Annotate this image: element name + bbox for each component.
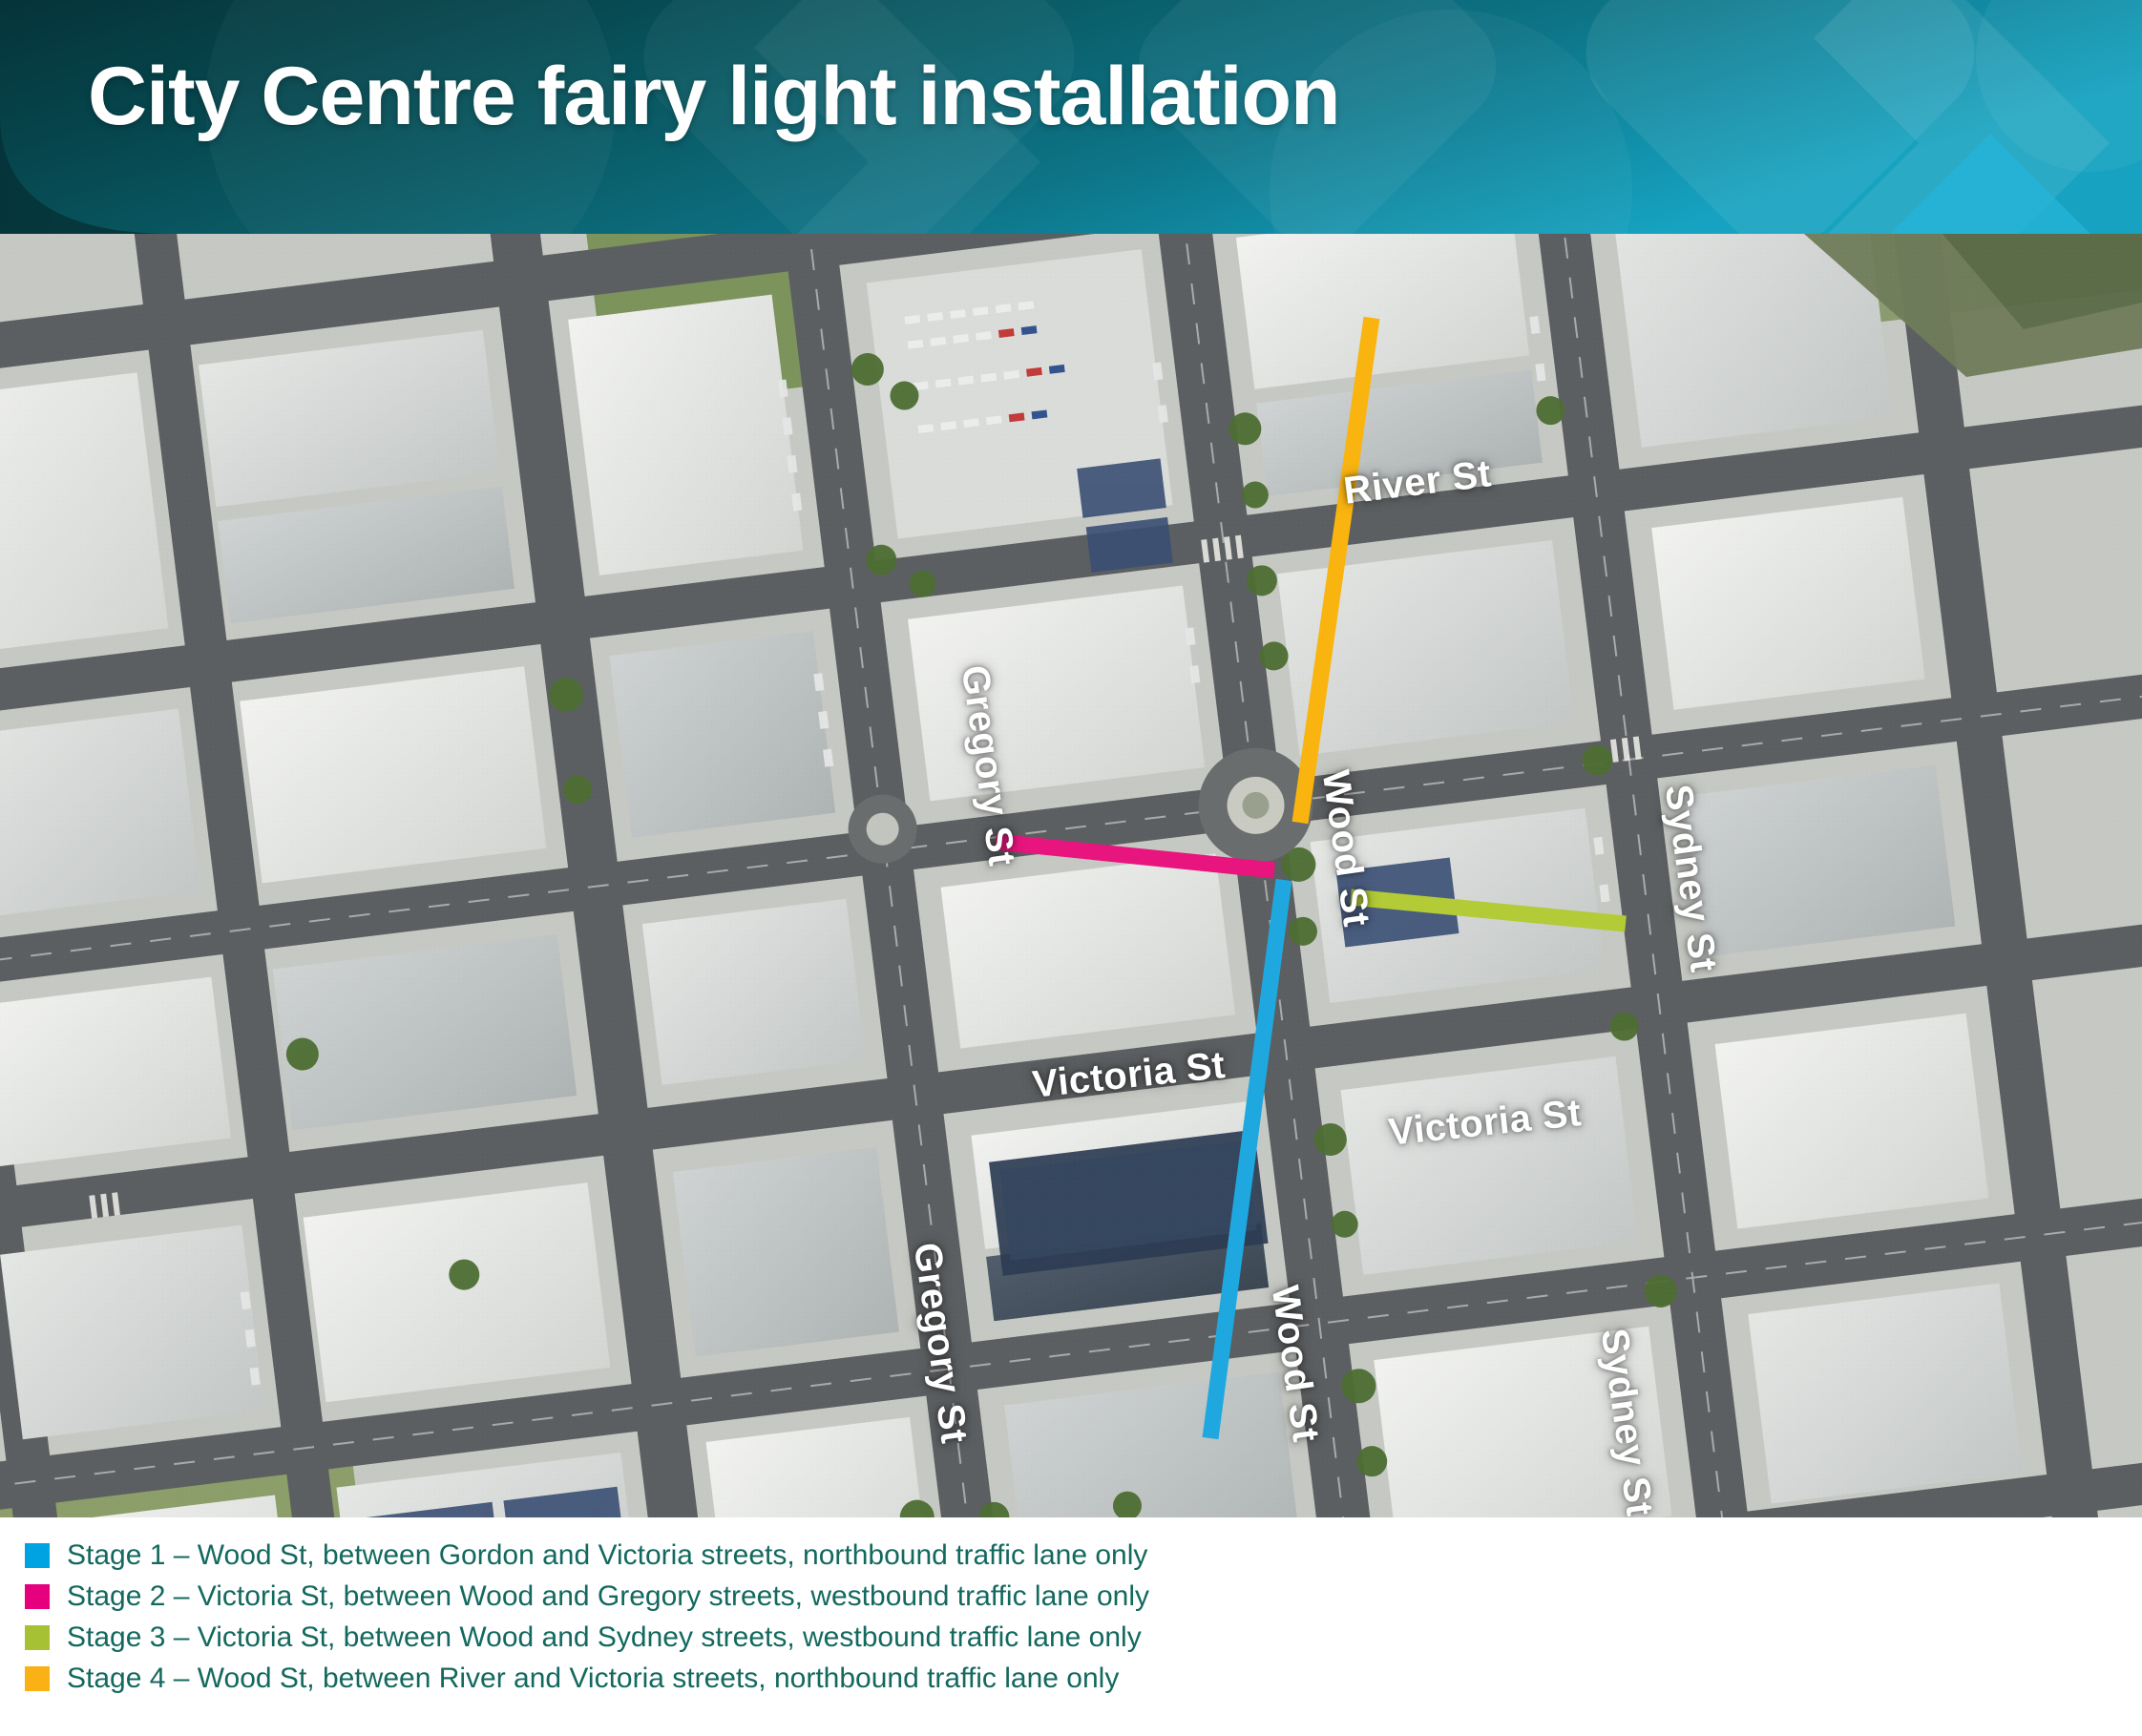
legend-item-stage-3: Stage 3 – Victoria St, between Wood and … bbox=[25, 1617, 1294, 1658]
page-title: City Centre fairy light installation bbox=[88, 50, 1340, 144]
legend-swatch-stage-2 bbox=[25, 1584, 50, 1609]
map-image bbox=[0, 234, 2142, 1517]
legend-item-stage-4: Stage 4 – Wood St, between River and Vic… bbox=[25, 1658, 1294, 1699]
legend-item-stage-1: Stage 1 – Wood St, between Gordon and Vi… bbox=[25, 1535, 1294, 1576]
legend-label-stage-4: Stage 4 – Wood St, between River and Vic… bbox=[67, 1664, 1119, 1693]
poster-root: City Centre fairy light installation bbox=[0, 0, 2142, 1736]
legend-panel: Stage 1 – Wood St, between Gordon and Vi… bbox=[0, 1517, 2142, 1736]
legend-label-stage-1: Stage 1 – Wood St, between Gordon and Vi… bbox=[67, 1541, 1147, 1570]
legend-label-stage-2: Stage 2 – Victoria St, between Wood and … bbox=[67, 1582, 1149, 1611]
legend-label-stage-3: Stage 3 – Victoria St, between Wood and … bbox=[67, 1623, 1142, 1652]
header-banner: City Centre fairy light installation bbox=[0, 0, 2142, 234]
legend-swatch-stage-1 bbox=[25, 1543, 50, 1568]
legend-swatch-stage-3 bbox=[25, 1625, 50, 1650]
legend-swatch-stage-4 bbox=[25, 1666, 50, 1691]
aerial-map[interactable]: River St Gregory St Wood St Sydney St Vi… bbox=[0, 234, 2142, 1517]
legend-item-stage-2: Stage 2 – Victoria St, between Wood and … bbox=[25, 1576, 1294, 1617]
legend-list: Stage 1 – Wood St, between Gordon and Vi… bbox=[25, 1535, 1294, 1699]
